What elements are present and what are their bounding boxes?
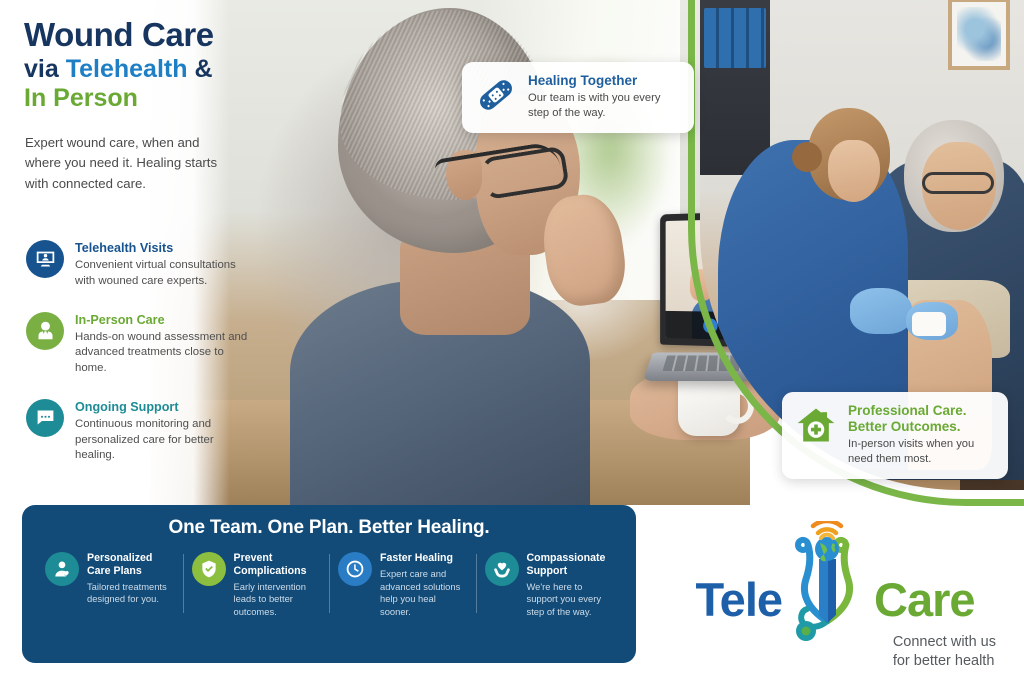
card-healing-together: Healing Together Our team is with you ev… — [462, 62, 694, 133]
logo-tagline-line-2: for better health — [893, 652, 996, 671]
bookshelf — [700, 0, 770, 175]
shield-check-icon — [192, 552, 226, 586]
headline-via: via — [24, 55, 66, 83]
panel-item-text: Faster Healing Expert care and advanced … — [380, 552, 467, 619]
panel-item-prevent-complications: Prevent Complications Early intervention… — [183, 552, 330, 619]
binders — [704, 8, 766, 68]
panel-item-personalized-care-plans: Personalized Care Plans Tailored treatme… — [36, 552, 183, 619]
card-text: Professional Care. Better Outcomes. In-p… — [848, 403, 995, 467]
panel-item-desc: We're here to support you every step of … — [527, 581, 614, 619]
panel-item-text: Compassionate Support We're here to supp… — [527, 552, 614, 619]
headline-block: Wound Care via Telehealth & In Person — [24, 18, 294, 112]
chat-smile-icon — [26, 399, 64, 437]
stethoscope-globe-wifi-icon — [772, 521, 882, 651]
poster-canvas: ● ■ ▣ ☎ — [0, 0, 1024, 683]
hands-heart-icon — [485, 552, 519, 586]
nurse-glove-left — [850, 288, 912, 334]
logo-tagline-line-1: Connect with us — [893, 633, 996, 652]
headline-line-1: Wound Care — [24, 18, 294, 53]
logo-word-care: Care — [874, 572, 975, 627]
person-heart-icon — [45, 552, 79, 586]
card-text: Healing Together Our team is with you ev… — [528, 73, 681, 121]
panel-item-desc: Tailored treatments designed for you. — [87, 581, 174, 606]
feature-text: In-Person Care Hands-on wound assessment… — [75, 312, 256, 377]
panel-item-title: Personalized Care Plans — [87, 552, 174, 578]
house-cross-icon — [794, 403, 838, 447]
hero-lede-text: Expert wound care, when and where you ne… — [25, 133, 225, 194]
benefits-panel: One Team. One Plan. Better Healing. Pers… — [22, 505, 636, 663]
feature-item-telehealth-visits: Telehealth Visits Convenient virtual con… — [26, 240, 256, 290]
headline-line-3: In Person — [24, 84, 294, 113]
card-title: Healing Together — [528, 73, 681, 89]
elderly-patient-glasses — [922, 172, 994, 194]
card-title-line-2: Better Outcomes. — [848, 419, 995, 435]
feature-title: Telehealth Visits — [75, 241, 256, 256]
panel-item-title: Prevent Complications — [234, 552, 321, 578]
panel-title: One Team. One Plan. Better Healing. — [36, 517, 622, 539]
mic-icon[interactable]: ● — [703, 318, 717, 333]
panel-item-desc: Expert care and advanced solutions help … — [380, 568, 467, 618]
nurse-ponytail — [792, 142, 822, 172]
feature-text: Ongoing Support Continuous monitoring an… — [75, 399, 256, 464]
panel-item-desc: Early intervention leads to better outco… — [234, 581, 321, 619]
nurse-face-right — [828, 140, 880, 202]
feature-title: Ongoing Support — [75, 400, 256, 415]
headline-line-2: via Telehealth & — [24, 55, 294, 84]
headline-telehealth: Telehealth — [66, 55, 188, 83]
panel-items-grid: Personalized Care Plans Tailored treatme… — [36, 552, 622, 619]
panel-item-faster-healing: Faster Healing Expert care and advanced … — [329, 552, 476, 619]
gauze-dressing — [912, 312, 946, 336]
panel-item-title: Compassionate Support — [527, 552, 614, 578]
logo-word-tele: Tele — [695, 572, 782, 627]
card-desc: Our team is with you every step of the w… — [528, 91, 681, 121]
bandage-icon — [474, 73, 518, 117]
wall-art — [948, 0, 1010, 70]
card-title-line-1: Professional Care. — [848, 403, 995, 419]
feature-item-in-person-care: In-Person Care Hands-on wound assessment… — [26, 312, 256, 377]
card-desc: In-person visits when you need them most… — [848, 437, 995, 467]
card-professional-care: Professional Care. Better Outcomes. In-p… — [782, 392, 1008, 479]
feature-desc: Continuous monitoring and personalized c… — [75, 417, 256, 464]
monitor-person-icon — [26, 240, 64, 278]
panel-item-text: Prevent Complications Early intervention… — [234, 552, 321, 619]
headline-ampersand: & — [188, 55, 213, 83]
feature-title: In-Person Care — [75, 313, 256, 328]
logo-tagline: Connect with us for better health — [893, 633, 996, 670]
feature-item-ongoing-support: Ongoing Support Continuous monitoring an… — [26, 399, 256, 464]
feature-desc: Hands-on wound assessment and advanced t… — [75, 330, 256, 377]
panel-item-text: Personalized Care Plans Tailored treatme… — [87, 552, 174, 619]
feature-desc: Convenient virtual consultations with wo… — [75, 258, 256, 289]
clock-icon — [338, 552, 372, 586]
nurse-icon — [26, 312, 64, 350]
feature-text: Telehealth Visits Convenient virtual con… — [75, 240, 256, 290]
brand-logo: Tele Care — [660, 525, 1010, 675]
panel-item-compassionate-support: Compassionate Support We're here to supp… — [476, 552, 623, 619]
feature-list: Telehealth Visits Convenient virtual con… — [26, 240, 256, 486]
panel-item-title: Faster Healing — [380, 552, 467, 565]
